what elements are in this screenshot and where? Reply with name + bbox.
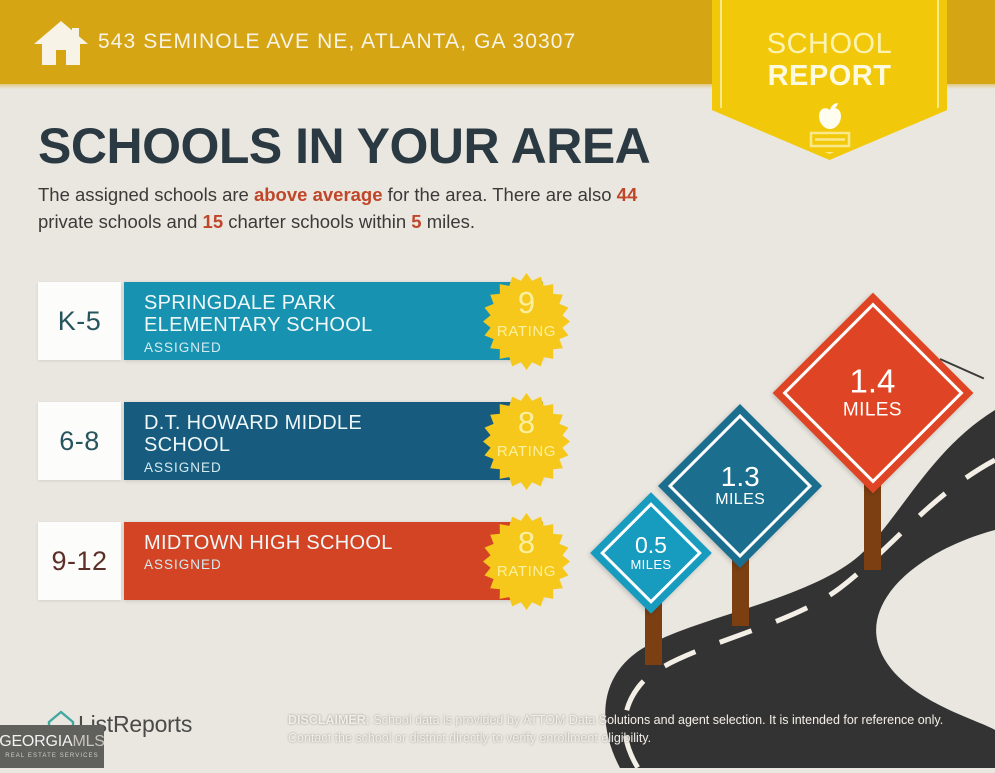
grade-range-label: 9-12 [51, 546, 107, 577]
sign-distance-value: 0.5 [630, 533, 671, 557]
subtitle-radius-miles: 5 [411, 211, 421, 232]
watermark-brand-suffix: MLS [72, 733, 104, 750]
grade-range-box: 9-12 [38, 522, 121, 600]
sign-text: 1.3 MILES [715, 462, 765, 509]
watermark-brand: GEORGIAMLS [0, 734, 105, 750]
sign-text: 0.5 MILES [630, 533, 671, 572]
georgia-mls-watermark: GEORGIAMLS REAL ESTATE SERVICES [0, 725, 104, 768]
disclaimer-label: DISCLAIMER: [288, 713, 370, 727]
subtitle-part-4: charter schools within [223, 211, 411, 232]
subtitle-part-1: The assigned schools are [38, 184, 254, 205]
sign-distance-unit: MILES [715, 492, 765, 510]
grade-range-label: 6-8 [59, 426, 100, 457]
distance-sign-diamond: 1.4 MILES [773, 293, 974, 494]
subtitle-part-2: for the area. There are also [383, 184, 617, 205]
distance-sign-diamond: 0.5 MILES [590, 492, 712, 614]
road-illustration: 1.4 MILES 1.3 MILES 0.5 MILES [560, 300, 995, 768]
school-row[interactable]: 6-8 D.T. HOWARD MIDDLE SCHOOL ASSIGNED 8… [38, 402, 543, 480]
sign-distance-unit: MILES [630, 558, 671, 573]
subtitle-charter-count: 15 [203, 211, 224, 232]
apple-on-book-icon [795, 100, 865, 150]
sign-distance-unit: MILES [843, 399, 902, 421]
school-row[interactable]: 9-12 MIDTOWN HIGH SCHOOL ASSIGNED 8 RATI… [38, 522, 543, 600]
disclaimer-text: DISCLAIMER: School data is provided by A… [288, 711, 948, 747]
distance-sign: 1.3 MILES [682, 428, 798, 544]
disclaimer-body: School data is provided by ATTOM Data So… [288, 713, 943, 745]
school-name: SPRINGDALE PARK ELEMENTARY SCHOOL [144, 292, 434, 337]
watermark-brand-name: GEORGIA [0, 733, 72, 750]
grade-range-box: 6-8 [38, 402, 121, 480]
school-name: D.T. HOWARD MIDDLE SCHOOL [144, 412, 434, 457]
sign-text: 1.4 MILES [843, 365, 902, 422]
house-icon [32, 18, 90, 68]
subtitle-highlight-rating: above average [254, 184, 383, 205]
page-subtitle: The assigned schools are above average f… [38, 182, 693, 236]
property-address: 543 SEMINOLE AVE NE, ATLANTA, GA 30307 [98, 30, 576, 54]
subtitle-private-count: 44 [617, 184, 638, 205]
school-row[interactable]: K-5 SPRINGDALE PARK ELEMENTARY SCHOOL AS… [38, 282, 543, 360]
page-title: SCHOOLS IN YOUR AREA [38, 120, 650, 173]
badge-title-line2: REPORT [712, 62, 947, 91]
watermark-tagline: REAL ESTATE SERVICES [5, 753, 98, 759]
grade-range-box: K-5 [38, 282, 121, 360]
school-name: MIDTOWN HIGH SCHOOL [144, 532, 434, 554]
subtitle-part-5: miles. [422, 211, 475, 232]
sign-distance-value: 1.3 [715, 462, 765, 491]
grade-range-label: K-5 [58, 306, 102, 337]
badge-title-line1: SCHOOL [712, 30, 947, 59]
sign-distance-value: 1.4 [843, 365, 902, 400]
distance-sign: 1.4 MILES [802, 322, 944, 464]
distance-sign: 0.5 MILES [608, 510, 694, 596]
subtitle-part-3: private schools and [38, 211, 203, 232]
